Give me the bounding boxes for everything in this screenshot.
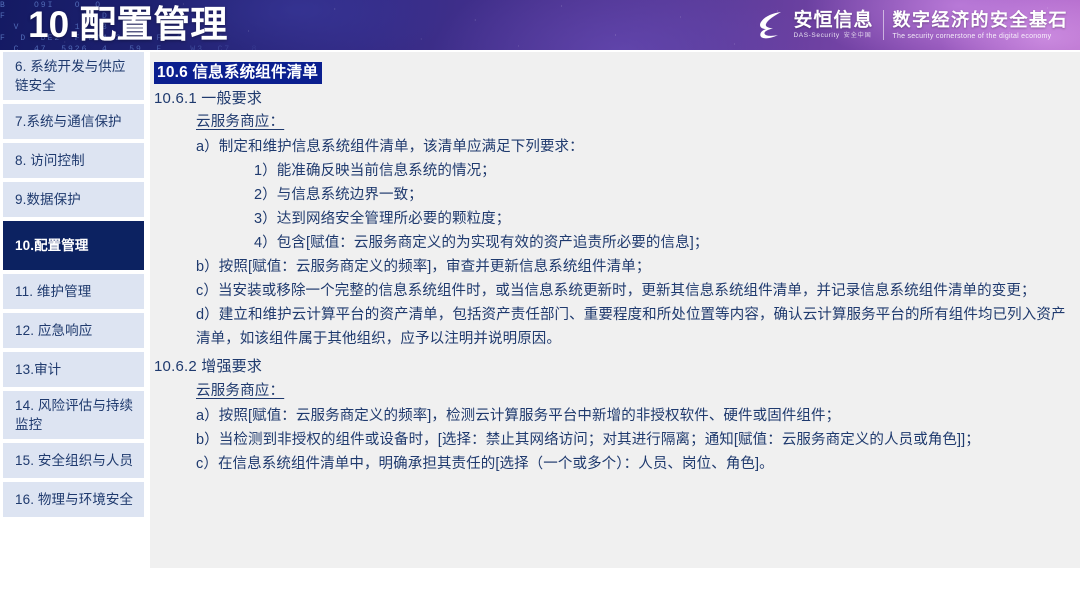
general-item-b: b）按照[赋值：云服务商定义的频率]，审查并更新信息系统组件清单； xyxy=(196,255,1068,279)
brand-slogan-cn: 数字经济的安全基石 xyxy=(893,11,1069,29)
sidebar-item-8[interactable]: 8. 访问控制 xyxy=(3,143,144,178)
sidebar-item-label: 14. 风险评估与持续监控 xyxy=(15,396,135,434)
sidebar-item-13[interactable]: 13.审计 xyxy=(3,352,144,387)
enhanced-item-b: b）当检测到非授权的组件或设备时，[选择：禁止其网络访问；对其进行隔离；通知[赋… xyxy=(196,428,1068,452)
general-subitem-4: 4）包含[赋值：云服务商定义的为实现有效的资产追责所必要的信息]； xyxy=(254,231,1068,255)
general-subitem-3: 3）达到网络安全管理所必要的颗粒度； xyxy=(254,207,1068,231)
sidebar-item-6[interactable]: 6. 系统开发与供应链安全 xyxy=(3,52,144,100)
page-title: 10.配置管理 xyxy=(28,1,227,49)
sidebar-item-10[interactable]: 10.配置管理 xyxy=(3,221,144,270)
general-item-c: c）当安装或移除一个完整的信息系统组件时，或当信息系统更新时，更新其信息系统组件… xyxy=(196,279,1068,303)
brand-name-en: DAS-Security xyxy=(793,33,839,40)
sidebar-item-label: 15. 安全组织与人员 xyxy=(15,451,133,470)
sidebar-item-label: 16. 物理与环境安全 xyxy=(15,490,133,509)
general-subitem-1: 1）能准确反映当前信息系统的情况； xyxy=(254,159,1068,183)
brand-slogan-block: 数字经济的安全基石 The security cornerstone of th… xyxy=(893,11,1069,40)
sidebar-item-9[interactable]: 9.数据保护 xyxy=(3,182,144,217)
section-title: 10.6 信息系统组件清单 xyxy=(154,62,322,84)
slide-content-pane: 10.6 信息系统组件清单 10.6.1 一般要求 云服务商应： a）制定和维护… xyxy=(150,52,1080,568)
lead-enhanced-wrap: 云服务商应： xyxy=(154,380,1068,404)
sidebar-item-label: 7.系统与通信保护 xyxy=(15,112,122,131)
sidebar-item-14[interactable]: 14. 风险评估与持续监控 xyxy=(3,391,144,439)
lead-general-wrap: 云服务商应： xyxy=(154,111,1068,135)
sidebar-item-label: 13.审计 xyxy=(15,360,61,379)
sidebar-item-label: 12. 应急响应 xyxy=(15,321,92,340)
subsection-heading-general: 10.6.1 一般要求 xyxy=(154,87,1068,110)
sidebar-item-label: 10.配置管理 xyxy=(15,236,88,255)
brand-lockup: 安恒信息 DAS-Security 安全中国 数字经济的安全基石 The sec… xyxy=(758,5,1068,45)
slide-root: B O9I O O F 2 4 D V 1A 3 F D DE2 F3D04 2… xyxy=(0,0,1080,596)
sidebar-item-16[interactable]: 16. 物理与环境安全 xyxy=(3,482,144,517)
brand-name-block: 安恒信息 DAS-Security 安全中国 xyxy=(793,11,873,40)
sidebar-item-label: 11. 维护管理 xyxy=(15,282,91,301)
brand-divider xyxy=(883,10,884,40)
sidebar-item-15[interactable]: 15. 安全组织与人员 xyxy=(3,443,144,478)
sidebar-item-12[interactable]: 12. 应急响应 xyxy=(3,313,144,348)
sidebar-item-7[interactable]: 7.系统与通信保护 xyxy=(3,104,144,139)
general-item-a: a）制定和维护信息系统组件清单，该清单应满足下列要求： xyxy=(196,135,1068,159)
das-security-swoosh-logo-icon xyxy=(758,10,784,40)
lead-general: 云服务商应： xyxy=(196,111,284,134)
brand-name-sub: DAS-Security 安全中国 xyxy=(793,33,873,40)
enhanced-item-a: a）按照[赋值：云服务商定义的频率]，检测云计算服务平台中新增的非授权软件、硬件… xyxy=(196,404,1068,428)
general-subitem-2: 2）与信息系统边界一致； xyxy=(254,183,1068,207)
brand-name-cn-small: 安全中国 xyxy=(844,33,872,39)
enhanced-item-c: c）在信息系统组件清单中，明确承担其责任的[选择（一个或多个）：人员、岗位、角色… xyxy=(196,452,1068,476)
subsection-heading-enhanced: 10.6.2 增强要求 xyxy=(154,355,1068,379)
general-item-d: d）建立和维护云计算平台的资产清单，包括资产责任部门、重要程度和所处位置等内容，… xyxy=(196,303,1068,351)
brand-slogan-en: The security cornerstone of the digital … xyxy=(893,33,1069,40)
sidebar-item-label: 9.数据保护 xyxy=(15,190,81,209)
sidebar-item-label: 6. 系统开发与供应链安全 xyxy=(15,57,135,95)
brand-name-cn: 安恒信息 xyxy=(793,11,873,30)
sidebar-item-11[interactable]: 11. 维护管理 xyxy=(3,274,144,309)
lead-enhanced: 云服务商应： xyxy=(196,380,284,403)
sidebar-nav: 6. 系统开发与供应链安全 7.系统与通信保护 8. 访问控制 9.数据保护 1… xyxy=(0,52,147,596)
slide-header-banner: B O9I O O F 2 4 D V 1A 3 F D DE2 F3D04 2… xyxy=(0,0,1080,50)
sidebar-item-label: 8. 访问控制 xyxy=(15,151,85,170)
